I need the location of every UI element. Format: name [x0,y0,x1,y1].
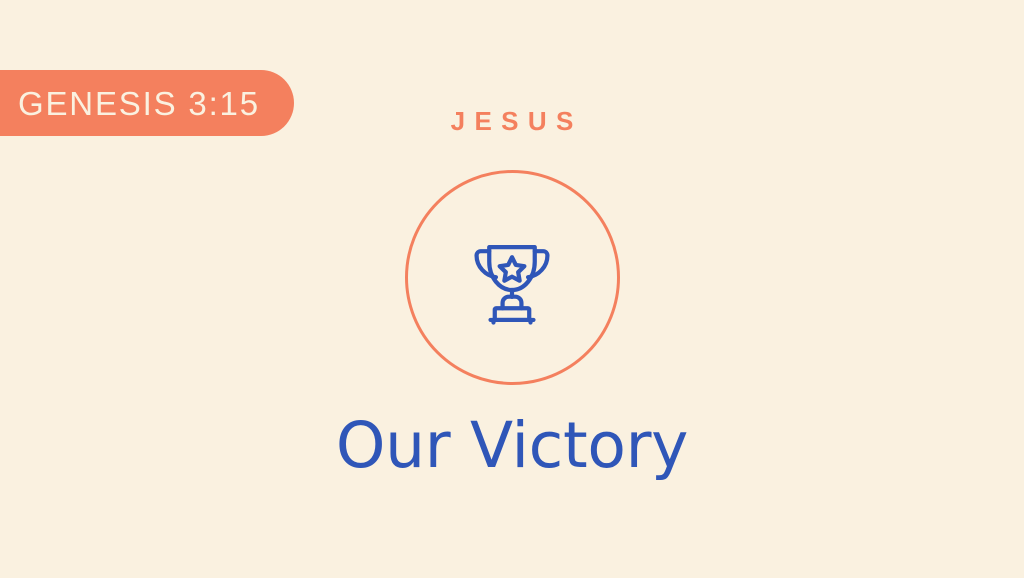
icon-medallion-circle [405,170,620,385]
series-eyebrow-label: JESUS [441,108,582,134]
sermon-slide: GENESIS 3:15 JESUS [0,0,1024,578]
slide-title: Our Victory [336,411,688,480]
slide-center-stack: JESUS [0,0,1024,578]
trophy-icon [460,226,564,330]
